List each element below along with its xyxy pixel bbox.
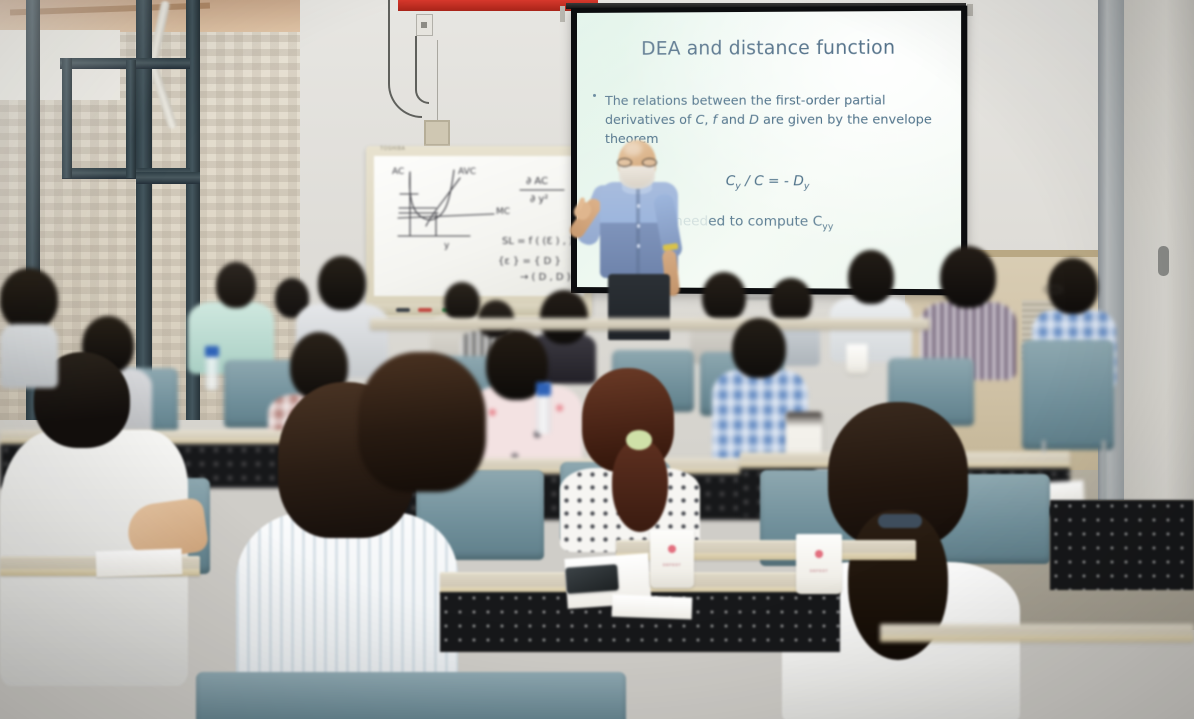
eq1-c: C [726, 173, 736, 189]
svg-text:AC: AC [392, 167, 404, 177]
person-head [216, 262, 256, 308]
desk-edge [880, 635, 1194, 642]
eq1-rest: / C = - D [741, 173, 804, 189]
person-shirt [830, 298, 912, 362]
svg-text:∂ AC: ∂ AC [526, 176, 548, 187]
person-row2-white-dress-shirt [830, 250, 912, 360]
chair-foreground-bottom[interactable] [196, 672, 626, 719]
svg-text:MC: MC [496, 207, 510, 217]
person-row3-dark-left [358, 352, 486, 502]
person-head [940, 246, 996, 308]
eq1-sub-y2: y [804, 181, 810, 192]
person-ponytail [612, 440, 668, 532]
screen-bracket-right [967, 4, 973, 16]
glasses-icon [1044, 286, 1062, 293]
slide-title: DEA and distance function [577, 37, 961, 60]
bottle-cap [536, 382, 551, 396]
smartphone[interactable] [565, 564, 619, 594]
person-edge-left [0, 268, 58, 388]
person-head [318, 256, 366, 310]
water-bottle-left[interactable] [205, 346, 219, 390]
paper-cup-far-right[interactable] [846, 344, 868, 374]
whiteboard-handwriting: AC AVC MC y ∂ AC ∂ y² SL = f ( (Ɛ ) , ) … [374, 156, 584, 296]
papers-front-extra[interactable] [612, 595, 693, 620]
presenter-shirt-button [637, 244, 641, 248]
door-handle-icon[interactable] [1158, 246, 1169, 276]
person-head [848, 250, 894, 304]
slide-var-c: C [696, 112, 705, 127]
cup-logo-icon [815, 550, 823, 558]
presenter-shirt-button [637, 204, 641, 208]
presenter-trousers [608, 274, 670, 340]
presenter-shirt-placket [636, 188, 640, 274]
water-bottle-center[interactable] [536, 382, 551, 434]
desk-front-panel-far-right [1050, 500, 1194, 590]
glasses-icon [617, 158, 657, 167]
slide-bullet-mid: , [704, 112, 712, 127]
person-head [702, 272, 746, 322]
paper-cup-center[interactable]: DEFEST [650, 530, 694, 588]
cup-brand-label: DEFEST [663, 562, 681, 567]
desk-row-1 [370, 318, 930, 330]
presenter [586, 140, 706, 340]
person-row3-auburn-ponytail [560, 368, 700, 544]
papers-left-desk[interactable] [96, 549, 183, 578]
classroom-photo: TOSHIBA AC [0, 0, 1194, 719]
person-row1-mint [188, 262, 274, 372]
svg-text:AVC: AVC [458, 167, 476, 177]
plaque-wire [437, 40, 438, 120]
hair-clip [626, 430, 652, 450]
svg-text:→ ( D , D ): → ( D , D ) [520, 272, 571, 283]
eq2-sub-yy: yy [822, 221, 833, 232]
hair-tie [878, 514, 922, 528]
presenter-shirt-button [637, 224, 641, 228]
cup-brand-label: DEFEST [810, 568, 828, 573]
glasses-lens-right [642, 158, 657, 167]
whiteboard-marker-black[interactable] [396, 308, 410, 312]
person-row3-purple-plaid [920, 246, 1016, 376]
person-head [0, 268, 58, 330]
person-shirt [0, 324, 58, 388]
slide-bullet-mid2: and [717, 112, 749, 127]
person-head [358, 352, 486, 492]
svg-text:{ɛ } = { D }: {ɛ } = { D } [498, 256, 561, 267]
wall-plaque [424, 120, 450, 146]
desk-bottom-right [880, 624, 1194, 642]
glasses-lens-left [617, 158, 632, 167]
outlet-socket-icon [421, 22, 427, 28]
paper-cup-right[interactable]: DEFEST [796, 534, 842, 594]
cup-logo-icon [668, 545, 676, 553]
person-head [732, 318, 786, 378]
slide-var-d: D [749, 112, 759, 127]
eq2-visible-text: ed to compute C [708, 213, 822, 229]
presenter-beard [619, 166, 655, 189]
presenter-head-highlight [624, 142, 642, 156]
svg-text:y: y [444, 241, 450, 251]
chair-row3-right-tall[interactable] [1022, 340, 1114, 450]
svg-text:∂ y²: ∂ y² [530, 194, 548, 205]
person-front-white-tshirt [0, 352, 188, 682]
screen-bracket-left [560, 6, 565, 22]
whiteboard-brand-label: TOSHIBA [380, 146, 405, 152]
outlet-cable [415, 36, 429, 104]
svg-text:SL = f ( (Ɛ ) , ): SL = f ( (Ɛ ) , ) [502, 236, 573, 247]
bottle-cap [205, 346, 219, 357]
bullet-dot-icon [593, 94, 596, 97]
